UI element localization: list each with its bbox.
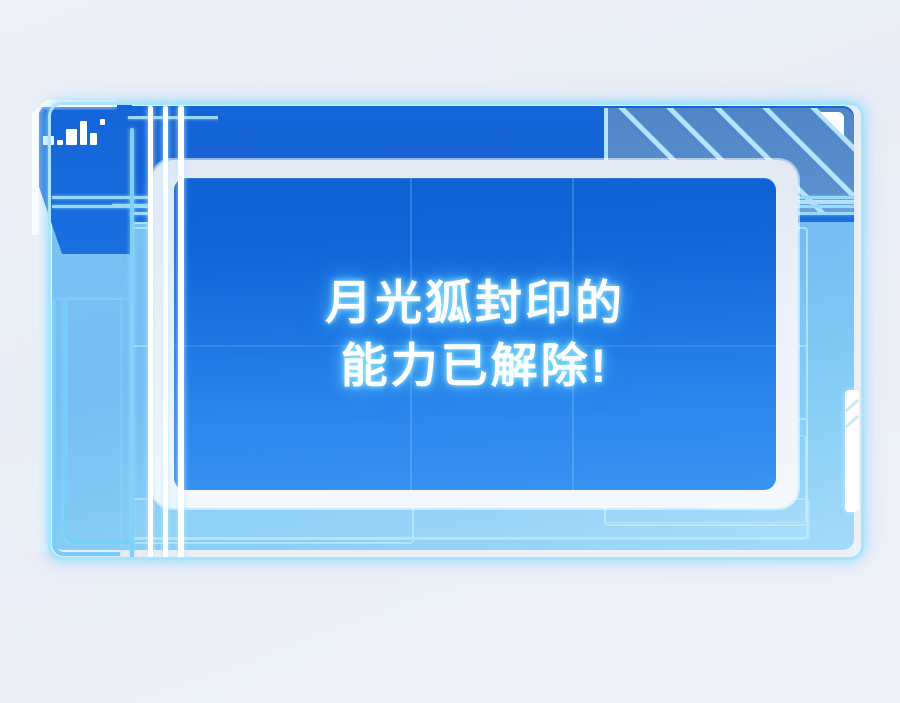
message-card: 月光狐封印的 能力已解除!	[174, 178, 776, 490]
notification-scene: 月光狐封印的 能力已解除!	[0, 0, 900, 703]
message-line-1: 月光狐封印的	[325, 278, 625, 327]
right-edge-handle[interactable]	[845, 390, 859, 512]
handle-notch-icon	[845, 399, 859, 412]
handle-notch-icon	[845, 415, 859, 428]
message-text-group: 月光狐封印的 能力已解除!	[174, 178, 776, 490]
message-line-2: 能力已解除!	[341, 341, 610, 390]
